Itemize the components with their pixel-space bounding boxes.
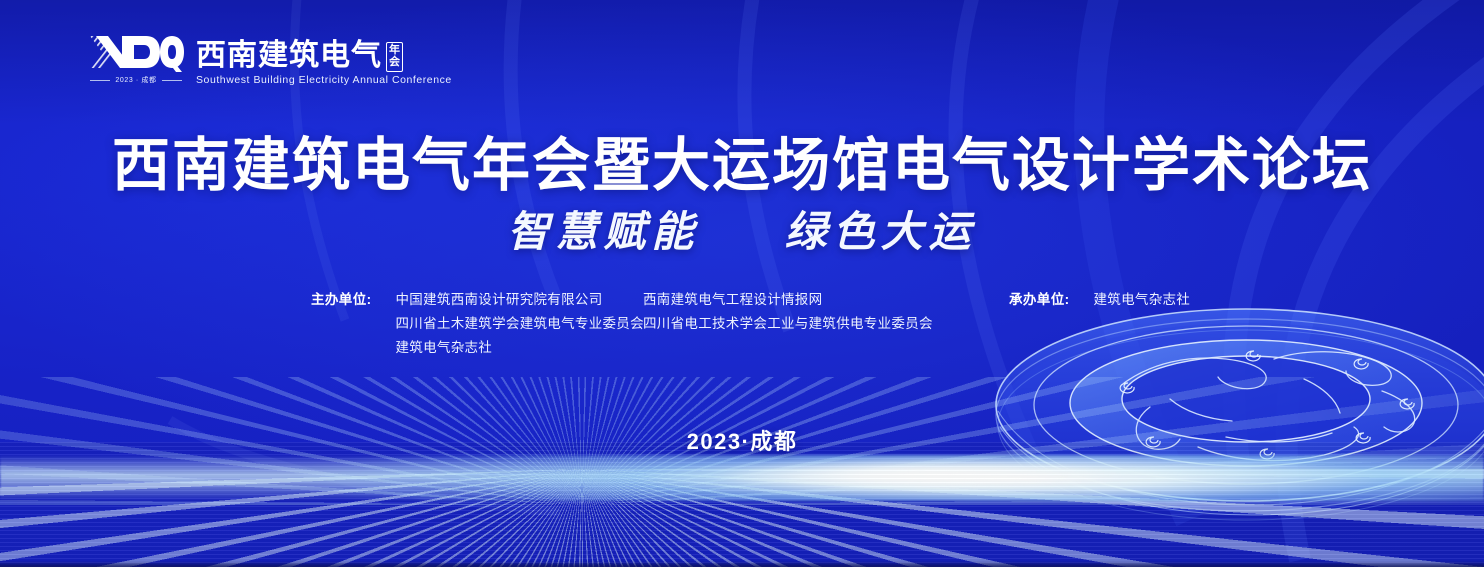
conference-logo: 2023 · 成都 西南建筑电气 年会 Southwest Building E…: [88, 32, 452, 94]
subtitle-left: 智慧赋能: [507, 207, 699, 256]
supporting-organizer-list: 建筑电气杂志社: [1094, 288, 1191, 312]
logo-rule-left: [90, 80, 110, 81]
xndq-letters-icon: [88, 32, 184, 72]
logo-text-block: 西南建筑电气 年会 Southwest Building Electricity…: [196, 40, 452, 86]
credits-section: 主办单位: 中国建筑西南设计研究院有限公司 四川省土木建筑学会建筑电气专业委员会…: [0, 288, 1484, 368]
date-city: 2023·成都: [0, 424, 1484, 456]
logo-annual-badge: 年会: [386, 42, 403, 72]
subtitle: 智慧赋能 绿色大运: [0, 198, 1484, 259]
partner-organizer-item: 西南建筑电气工程设计情报网: [643, 288, 933, 312]
supporting-organizer-item: 建筑电气杂志社: [1094, 288, 1191, 312]
main-title: 西南建筑电气年会暨大运场馆电气设计学术论坛: [0, 118, 1484, 202]
logo-rule-right: [162, 80, 182, 81]
host-organizer-block: 主办单位: 中国建筑西南设计研究院有限公司 四川省土木建筑学会建筑电气专业委员会…: [311, 288, 644, 360]
subtitle-right: 绿色大运: [785, 207, 977, 256]
logo-year-city: 2023 · 成都: [90, 75, 181, 85]
host-organizer-list: 中国建筑西南设计研究院有限公司 四川省土木建筑学会建筑电气专业委员会 建筑电气杂…: [396, 288, 644, 360]
host-organizer-item: 四川省土木建筑学会建筑电气专业委员会: [396, 312, 644, 336]
host-organizer-item: 中国建筑西南设计研究院有限公司: [396, 288, 644, 312]
supporting-organizer-label: 承办单位:: [1009, 288, 1070, 312]
xndq-logo-mark: 2023 · 成都: [88, 32, 184, 94]
host-organizer-item: 建筑电气杂志社: [396, 336, 644, 360]
supporting-organizer-block: 承办单位: 建筑电气杂志社: [1009, 288, 1190, 312]
light-horizon: [0, 377, 1484, 567]
logo-name-en: Southwest Building Electricity Annual Co…: [196, 74, 452, 86]
conference-banner: 2023 · 成都 西南建筑电气 年会 Southwest Building E…: [0, 0, 1484, 567]
logo-year-city-label: 2023 · 成都: [115, 75, 156, 85]
host-organizer-label: 主办单位:: [311, 288, 372, 360]
bottom-edge-shadow: [0, 561, 1484, 567]
partner-organizer-item: 四川省电工技术学会工业与建筑供电专业委员会: [643, 312, 933, 336]
horizon-core-glow: [710, 461, 1130, 491]
partner-organizer-block: 西南建筑电气工程设计情报网 四川省电工技术学会工业与建筑供电专业委员会: [643, 288, 933, 336]
partner-organizer-list: 西南建筑电气工程设计情报网 四川省电工技术学会工业与建筑供电专业委员会: [643, 288, 933, 336]
logo-name-cn: 西南建筑电气: [196, 40, 382, 71]
